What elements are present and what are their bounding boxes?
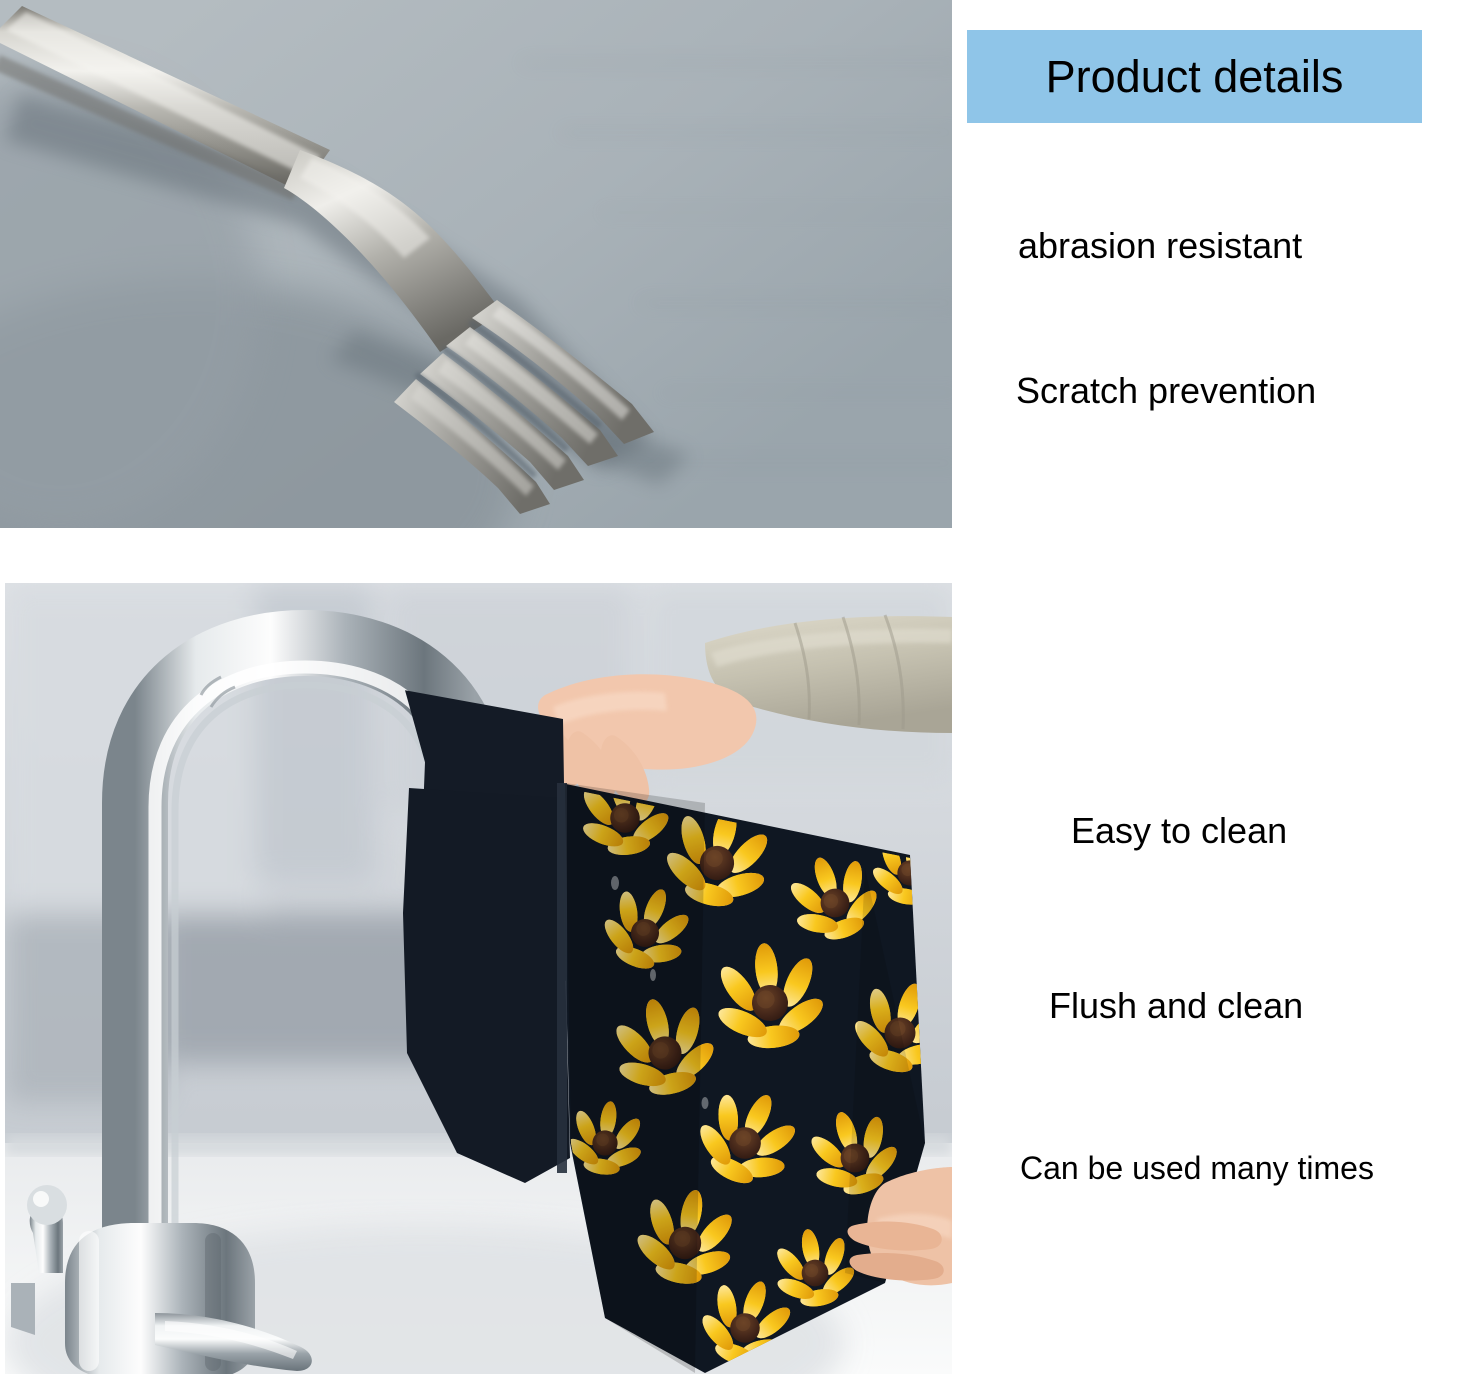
product-details-page: Product details abrasion resistant Scrat… (0, 0, 1457, 1374)
fork-photo-svg (0, 0, 952, 528)
feature-flush-and-clean: Flush and clean (1049, 985, 1303, 1027)
feature-reusable: Can be used many times (1020, 1150, 1374, 1187)
feature-easy-to-clean: Easy to clean (1071, 810, 1287, 852)
sunflower-mat-rinsed-under-faucet-photo (5, 583, 952, 1374)
fork-on-gray-surface-photo (0, 0, 952, 528)
product-details-badge: Product details (967, 30, 1422, 123)
product-details-title: Product details (1046, 51, 1344, 103)
feature-abrasion-resistant: abrasion resistant (1018, 225, 1302, 267)
faucet-mat-photo-svg (5, 583, 952, 1374)
feature-scratch-prevention: Scratch prevention (1016, 370, 1316, 412)
